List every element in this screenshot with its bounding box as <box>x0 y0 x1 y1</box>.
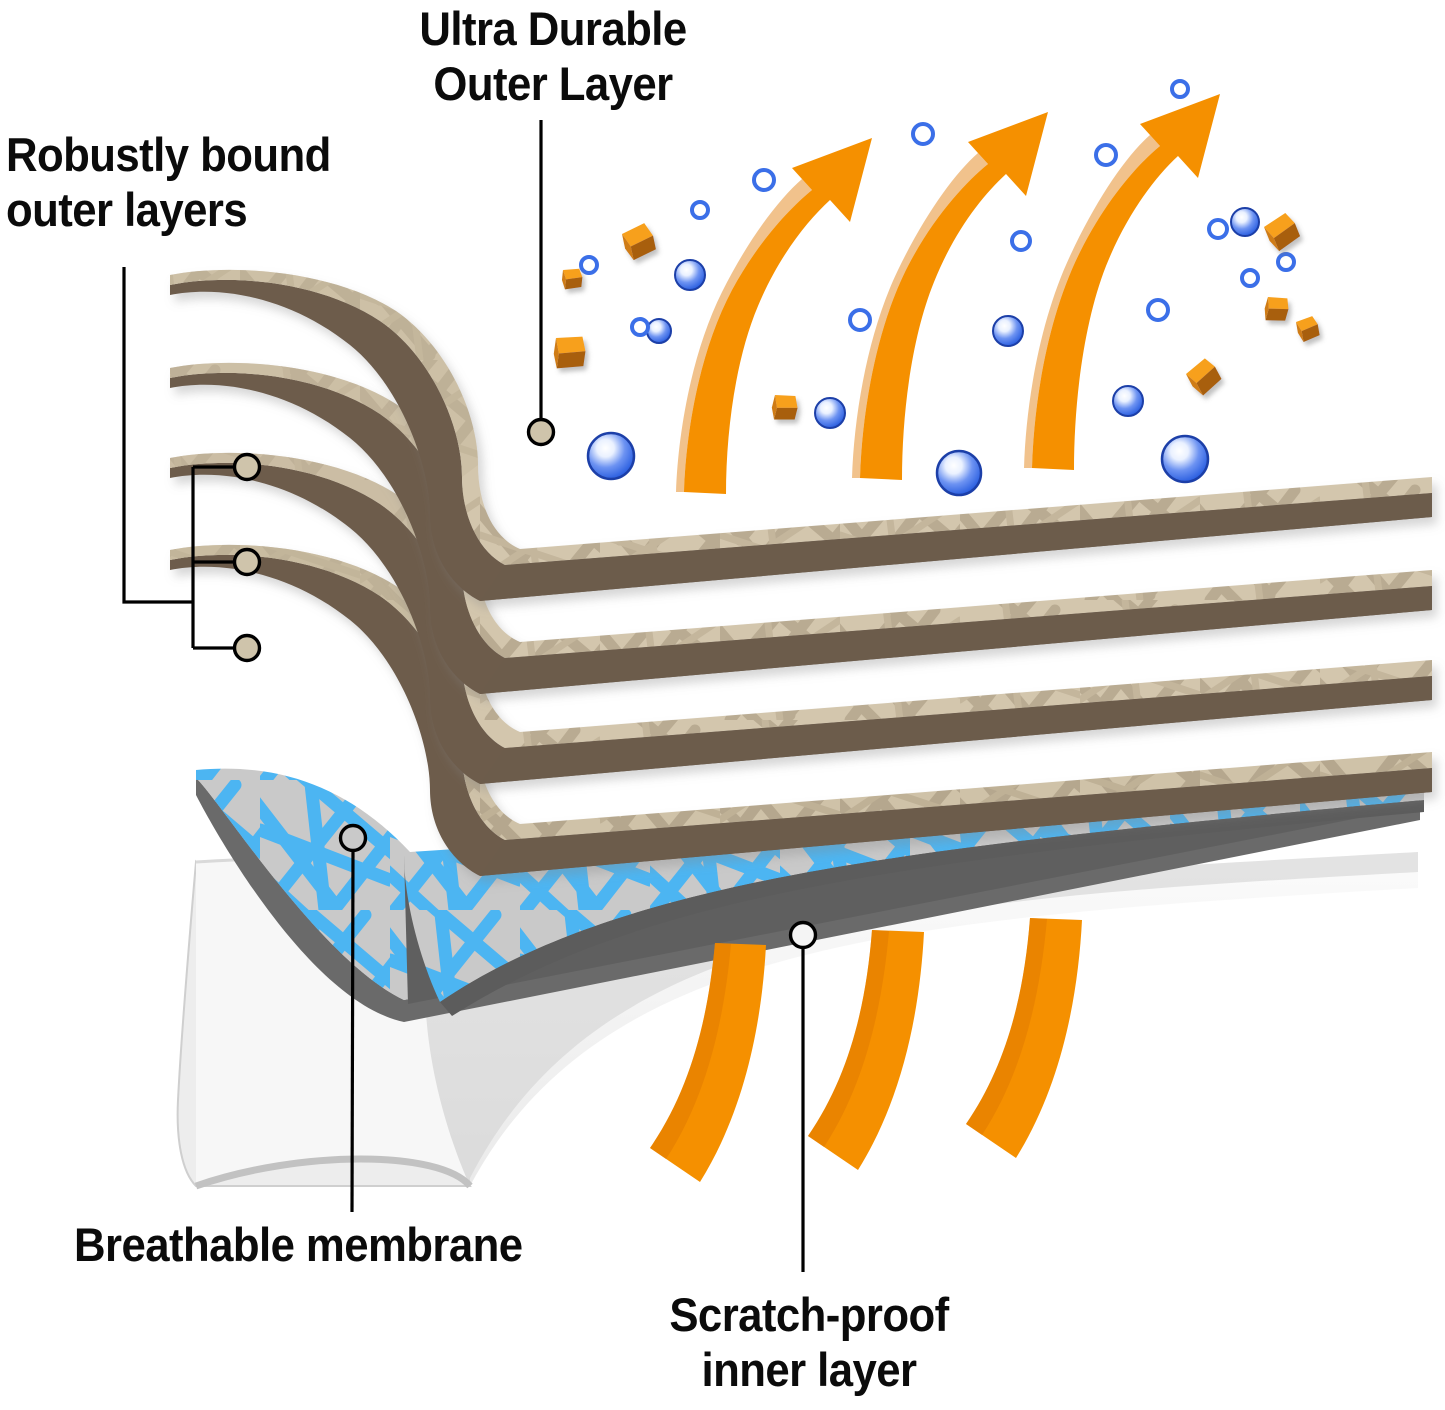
marker-ultra-durable <box>529 420 554 445</box>
label-breathable-membrane: Breathable membrane <box>74 1218 523 1273</box>
dirt-cube-3 <box>769 391 800 424</box>
upward-arrow-2 <box>852 112 1048 480</box>
dirt-cube-4 <box>1262 211 1302 253</box>
downward-airflow-arrows <box>650 918 1082 1182</box>
dirt-cube-7 <box>561 267 583 291</box>
marker-outer-layer-b <box>235 550 260 575</box>
upward-moisture-arrows <box>676 94 1220 494</box>
downward-arrow-3 <box>966 918 1082 1158</box>
dirt-cube-6 <box>1184 356 1225 398</box>
marker-outer-layer-a <box>235 455 260 480</box>
dirt-cube-5 <box>1262 293 1292 325</box>
label-ultra-durable-outer-layer: Ultra Durable Outer Layer <box>389 2 716 112</box>
marker-outer-layer-c <box>235 636 260 661</box>
upward-arrow-1 <box>676 138 872 494</box>
diagram-canvas: Robustly bound outer layers Ultra Durabl… <box>0 0 1445 1410</box>
downward-arrow-2 <box>808 930 924 1170</box>
dirt-cube-1 <box>621 222 657 261</box>
marker-breathable-membrane <box>341 826 366 851</box>
label-scratch-proof-inner-layer: Scratch-proof inner layer <box>632 1288 985 1398</box>
label-robustly-bound-outer-layers: Robustly bound outer layers <box>6 128 331 238</box>
dirt-cube-2 <box>552 333 588 372</box>
marker-scratch-proof <box>791 923 816 948</box>
dirt-cube-8 <box>1295 315 1320 342</box>
leader-breathable-membrane <box>352 850 353 1212</box>
